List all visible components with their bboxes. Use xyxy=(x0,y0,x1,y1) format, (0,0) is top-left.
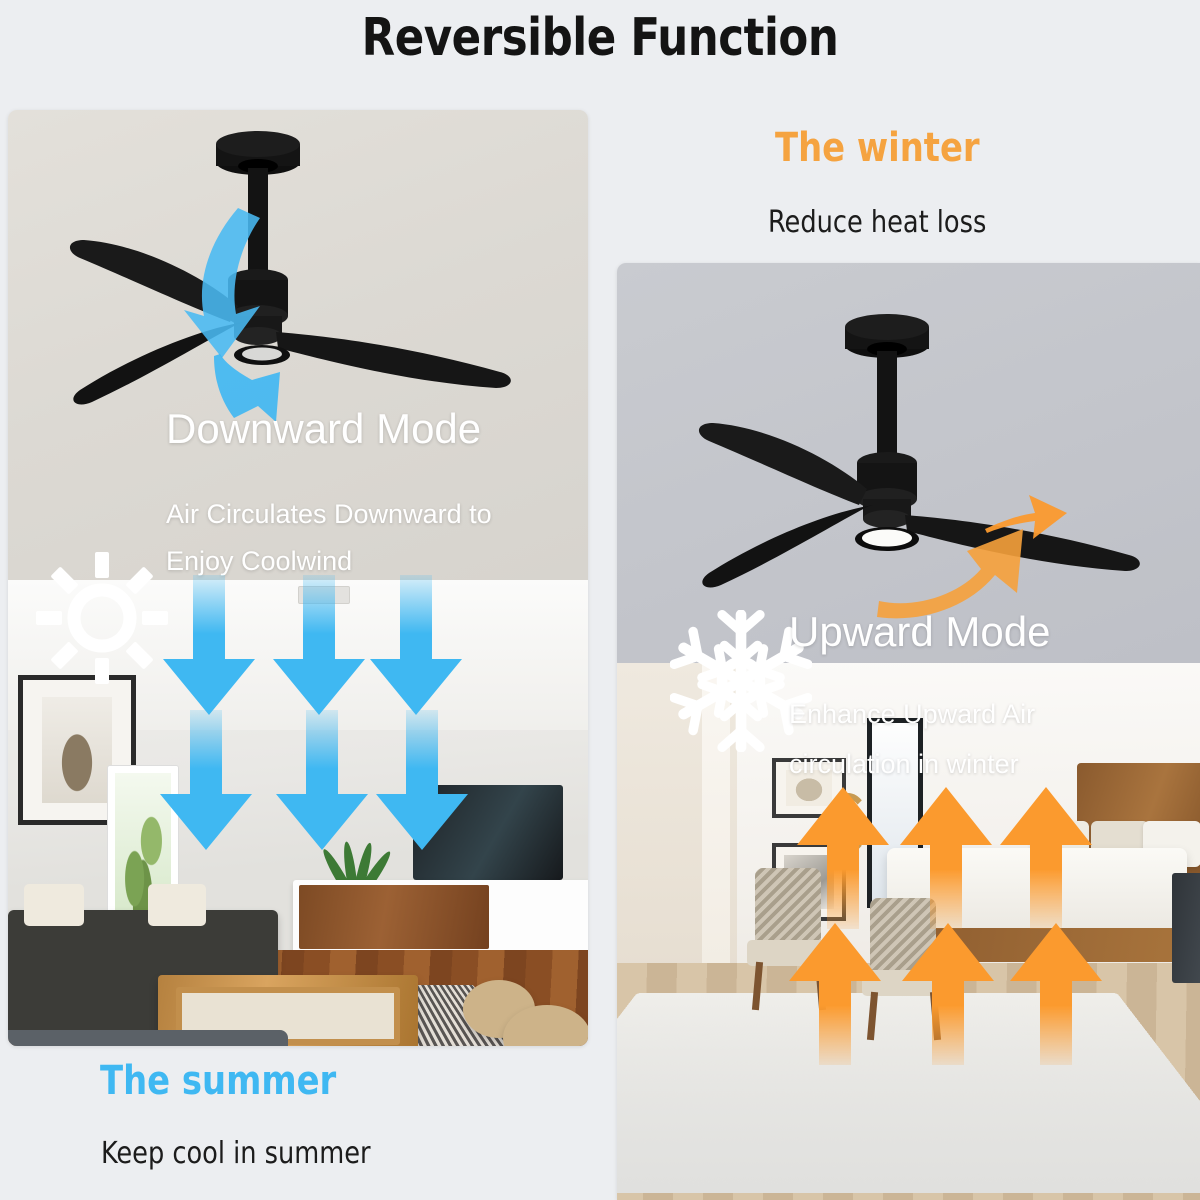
up-arrow xyxy=(1010,923,1102,1065)
downward-mode-panel: Downward Mode Air Circulates Downward to… xyxy=(8,110,588,1046)
ceiling-fan-upward xyxy=(637,283,1197,623)
summer-season-subtitle: Keep cool in summer xyxy=(101,1136,371,1171)
upward-mode-title: Upward Mode xyxy=(789,611,1050,653)
up-arrow xyxy=(797,787,889,929)
upward-mode-desc-line2: circulation in winter xyxy=(789,745,1019,784)
upward-mode-panel: Upward Mode Enhance Upward Air circulati… xyxy=(617,263,1200,1200)
sun-icon xyxy=(36,552,168,684)
up-arrow xyxy=(789,923,881,1065)
upward-mode-desc-line1: Enhance Upward Air xyxy=(789,695,1035,734)
ceiling-fan-downward xyxy=(8,110,588,440)
down-arrow xyxy=(163,575,255,715)
winter-season-title: The winter xyxy=(775,125,980,171)
downward-mode-desc-line1: Air Circulates Downward to xyxy=(166,495,492,534)
down-arrow xyxy=(273,575,365,715)
winter-season-subtitle: Reduce heat loss xyxy=(768,205,986,240)
down-arrow xyxy=(276,710,368,850)
up-arrow xyxy=(1000,787,1092,929)
nightstand xyxy=(1172,873,1200,983)
down-arrow xyxy=(376,710,468,850)
down-arrow xyxy=(370,575,462,715)
down-arrow xyxy=(160,710,252,850)
up-arrow xyxy=(900,787,992,929)
summer-season-title: The summer xyxy=(100,1058,336,1104)
media-console xyxy=(293,880,588,958)
up-arrow xyxy=(902,923,994,1065)
loveseat xyxy=(8,1030,288,1046)
page-title: Reversible Function xyxy=(42,8,1158,68)
downward-mode-title: Downward Mode xyxy=(166,408,481,450)
